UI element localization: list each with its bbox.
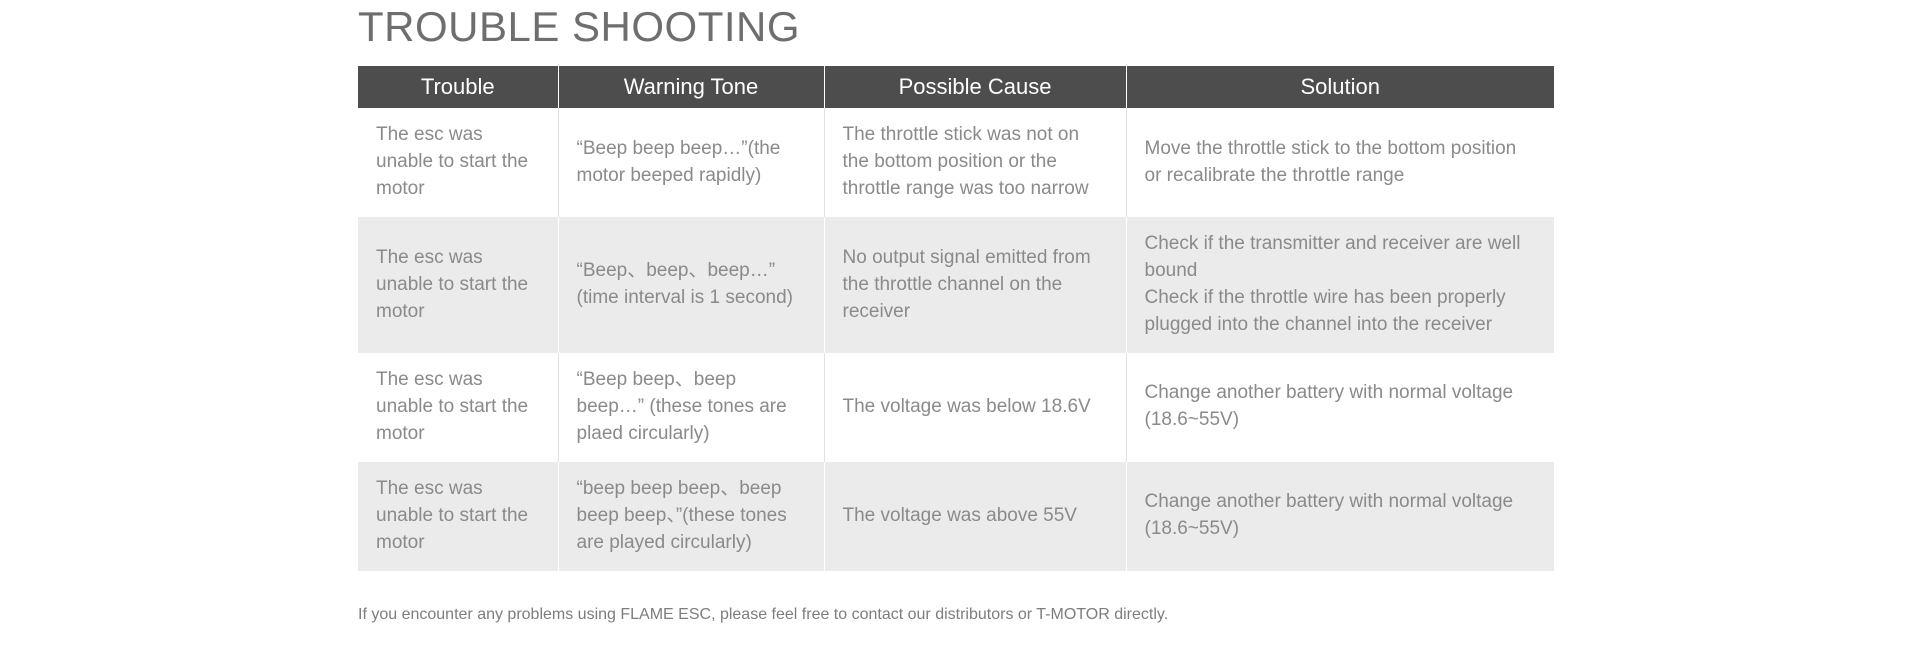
cell-possible-cause: No output signal emitted from the thrott…	[824, 217, 1126, 353]
footnote-text: If you encounter any problems using FLAM…	[358, 605, 1554, 626]
cell-possible-cause: The voltage was below 18.6V	[824, 353, 1126, 462]
cell-trouble: The esc was unable to start the motor	[358, 353, 558, 462]
cell-solution: Move the throttle stick to the bottom po…	[1126, 108, 1554, 217]
cell-solution: Change another battery with normal volta…	[1126, 462, 1554, 571]
cell-warning-tone: “beep beep beep、beep beep beep、”(these t…	[558, 462, 824, 571]
table-row: The esc was unable to start the motor “b…	[358, 462, 1554, 571]
table-header: Trouble Warning Tone Possible Cause Solu…	[358, 66, 1554, 108]
cell-trouble: The esc was unable to start the motor	[358, 108, 558, 217]
column-header-solution: Solution	[1126, 66, 1554, 108]
column-header-warning-tone: Warning Tone	[558, 66, 824, 108]
cell-possible-cause: The throttle stick was not on the bottom…	[824, 108, 1126, 217]
cell-warning-tone: “Beep、beep、beep…” (time interval is 1 se…	[558, 217, 824, 353]
cell-solution: Change another battery with normal volta…	[1126, 353, 1554, 462]
troubleshooting-table: Trouble Warning Tone Possible Cause Solu…	[358, 66, 1554, 571]
table-body: The esc was unable to start the motor “B…	[358, 108, 1554, 571]
cell-possible-cause: The voltage was above 55V	[824, 462, 1126, 571]
cell-warning-tone: “Beep beep beep…”(the motor beeped rapid…	[558, 108, 824, 217]
cell-warning-tone: “Beep beep、beep beep…” (these tones are …	[558, 353, 824, 462]
page-title: TROUBLE SHOOTING	[358, 0, 1554, 50]
table-header-row: Trouble Warning Tone Possible Cause Solu…	[358, 66, 1554, 108]
column-header-trouble: Trouble	[358, 66, 558, 108]
table-row: The esc was unable to start the motor “B…	[358, 108, 1554, 217]
table-row: The esc was unable to start the motor “B…	[358, 353, 1554, 462]
cell-trouble: The esc was unable to start the motor	[358, 462, 558, 571]
column-header-possible-cause: Possible Cause	[824, 66, 1126, 108]
cell-trouble: The esc was unable to start the motor	[358, 217, 558, 353]
troubleshooting-page: TROUBLE SHOOTING Trouble Warning Tone Po…	[0, 0, 1920, 654]
table-row: The esc was unable to start the motor “B…	[358, 217, 1554, 353]
content-column: TROUBLE SHOOTING Trouble Warning Tone Po…	[358, 0, 1554, 626]
cell-solution: Check if the transmitter and receiver ar…	[1126, 217, 1554, 353]
